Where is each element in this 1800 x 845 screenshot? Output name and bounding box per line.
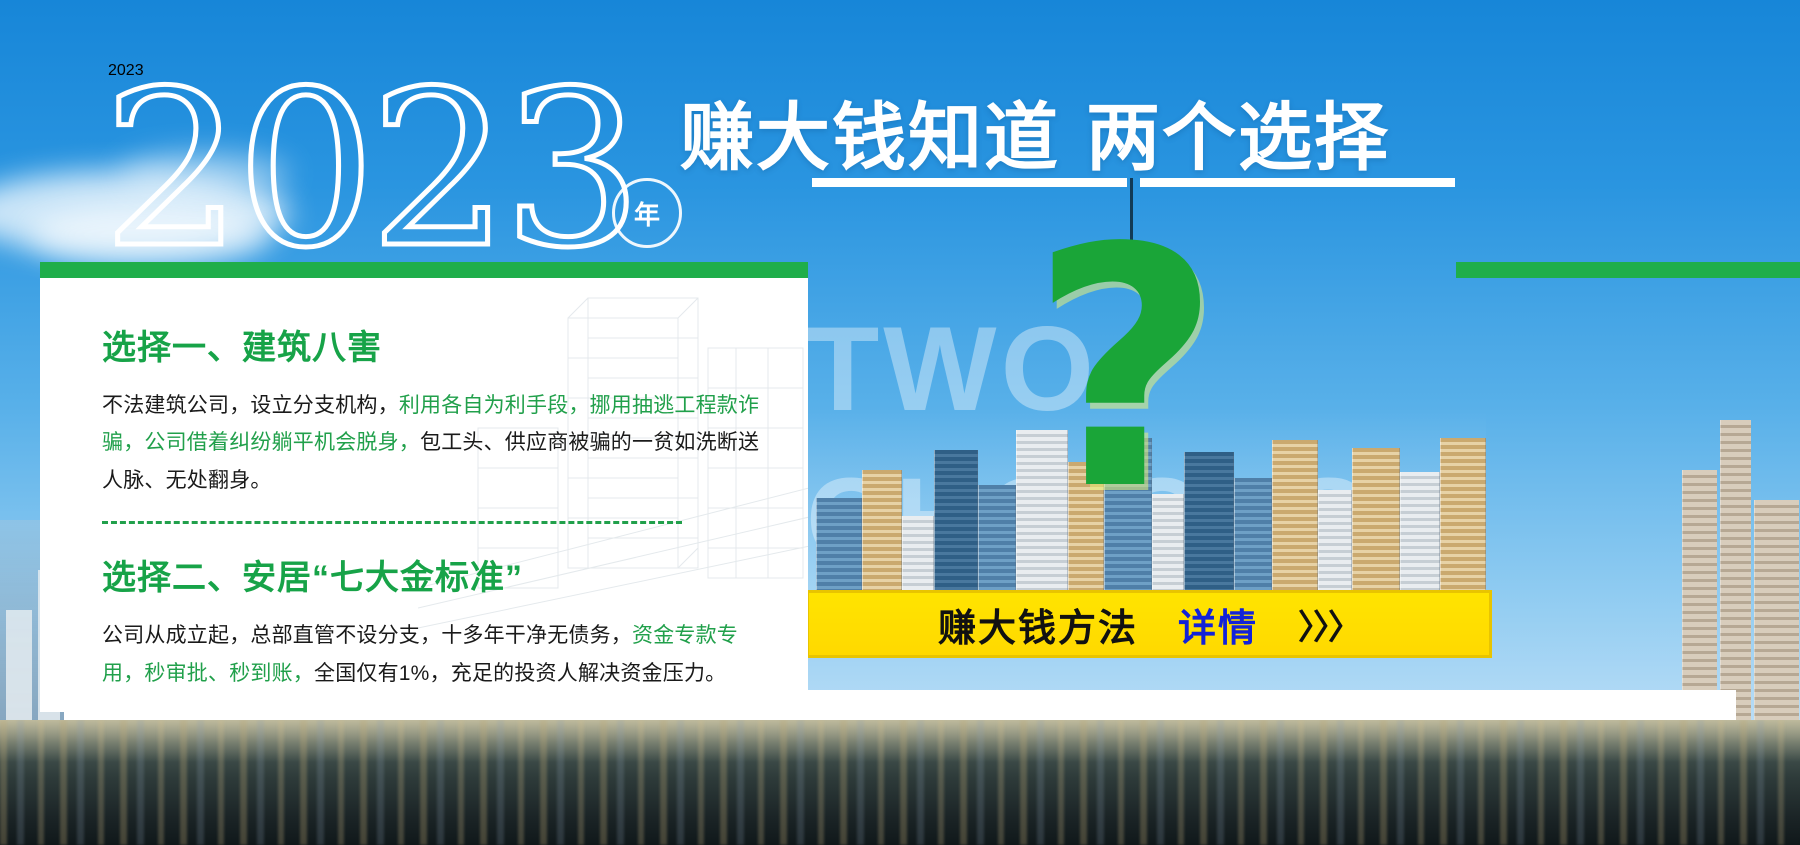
year-graphic: 2023 2023 <box>108 62 708 272</box>
bottom-photo-strip <box>0 720 1800 845</box>
body-run: 不法建筑公司，设立分支机构， <box>102 394 399 417</box>
section-one-title: 选择一、建筑八害 <box>102 320 774 369</box>
year-outline: 2023 <box>103 62 637 277</box>
green-accent-bar-right <box>1456 262 1800 278</box>
year-suffix-badge: 年 <box>612 178 682 248</box>
page-title: 赚大钱知道两个选择 <box>680 78 1390 185</box>
section-divider <box>102 521 682 524</box>
green-accent-bar-left <box>40 262 808 278</box>
section-two-body: 公司从成立起，总部直管不设分支，十多年干净无债务，资金专款专用，秒审批、秒到账，… <box>102 617 774 692</box>
card-bottom-frame <box>64 690 1736 722</box>
section-two-title: 选择二、安居“七大金标准” <box>102 550 774 599</box>
promotional-banner: 2023 2023 年 赚大钱知道两个选择 TWO CHOICES <box>0 0 1800 845</box>
headline-part-2: 两个选择 <box>1086 96 1390 179</box>
section-one-body: 不法建筑公司，设立分支机构，利用各自为利手段，挪用抽逃工程款诈骗，公司借着纠纷躺… <box>102 387 774 499</box>
question-mark-icon: ? <box>1030 205 1221 535</box>
headline-part-1: 赚大钱知道 <box>680 96 1060 179</box>
cta-button[interactable]: 赚大钱方法 详情 〉〉〉 <box>806 590 1492 658</box>
content-card: 选择一、建筑八害 不法建筑公司，设立分支机构，利用各自为利手段，挪用抽逃工程款诈… <box>40 278 808 712</box>
chevron-right-icon: 〉〉〉 <box>1298 600 1360 649</box>
cta-main-label: 赚大钱方法 <box>938 597 1138 652</box>
cta-detail-label: 详情 <box>1178 597 1258 652</box>
body-run: 全国仅有1%，充足的投资人解决资金压力。 <box>314 662 726 685</box>
body-run: 公司从成立起，总部直管不设分支，十多年干净无债务， <box>102 624 632 647</box>
right-cityscape <box>1680 390 1800 720</box>
